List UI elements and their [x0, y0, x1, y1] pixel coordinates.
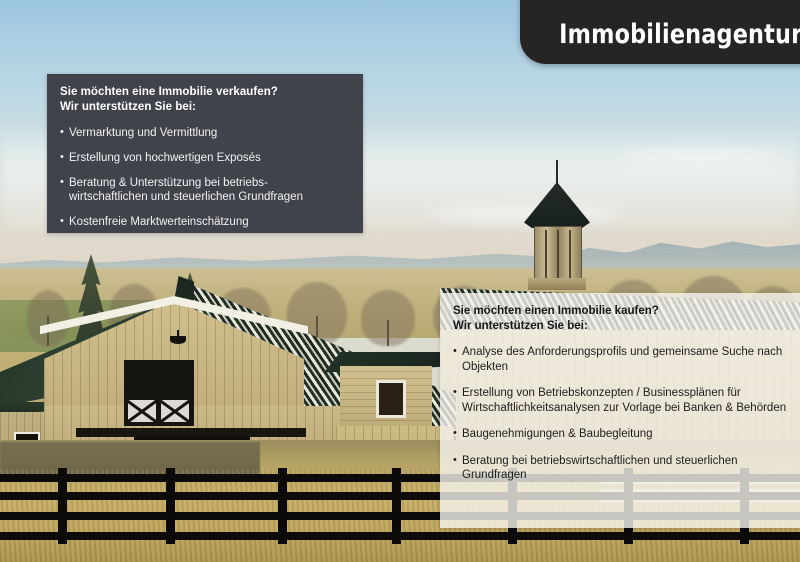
bullet-line-1: Erstellung von Betriebskonzepten / Busin…: [462, 387, 724, 399]
bullet-line-3: Banken & Behörden: [683, 402, 786, 414]
bullet-line-1: Beratung bei betriebswirtschaftlichen un…: [462, 455, 672, 467]
list-item: Vermarktung und Vermittlung: [60, 126, 351, 140]
fence-post: [58, 468, 67, 544]
poster-canvas: Immobilienagentur Sie möchten eine Immob…: [0, 0, 800, 562]
bullet-line-1: Baugenehmigungen & Baubegleitung: [462, 428, 653, 440]
buy-panel-heading: Sie möchten einen Immobilie kaufen? Wir …: [453, 304, 790, 334]
list-item: Beratung bei betriebswirtschaftlichen un…: [453, 454, 790, 483]
cupola-windows: [534, 226, 582, 282]
page-title: Immobilienagentur: [559, 19, 800, 50]
sell-bullet-list: Vermarktung und Vermittlung Erstellung v…: [60, 126, 351, 229]
buy-info-panel: Sie möchten einen Immobilie kaufen? Wir …: [440, 293, 800, 528]
fence-post: [166, 468, 175, 544]
cupola-roof: [524, 182, 590, 228]
buy-heading-line-2: Wir unterstützen Sie bei:: [453, 319, 790, 334]
fence-post: [392, 468, 401, 544]
bullet-line-1: Analyse des Anforderungsprofils und geme…: [462, 346, 718, 358]
barn-cupola: [524, 182, 590, 292]
bullet-line-1: Vermarktung und Vermittlung: [69, 127, 217, 139]
bullet-line-2: wirtschaftlichen und steuerlichen Grundf…: [69, 190, 351, 204]
sell-panel-heading: Sie möchten eine Immobilie verkaufen? Wi…: [60, 85, 351, 115]
list-item: Beratung & Unterstützung bei betriebs- w…: [60, 176, 351, 204]
fence-post: [278, 468, 287, 544]
cupola-base: [528, 278, 586, 290]
hayloft-door: [124, 360, 194, 426]
list-item: Baugenehmigungen & Baubegleitung: [453, 427, 790, 442]
list-item: Erstellung von hochwertigen Exposés: [60, 151, 351, 165]
barn-lamp: [170, 330, 186, 344]
list-item: Analyse des Anforderungsprofils und geme…: [453, 345, 790, 374]
bullet-line-1: Erstellung von hochwertigen Exposés: [69, 152, 261, 164]
bullet-line-1: Beratung & Unterstützung bei betriebs-: [69, 177, 268, 189]
sell-heading-line-2: Wir unterstützen Sie bei:: [60, 100, 351, 115]
list-item: Erstellung von Betriebskonzepten / Busin…: [453, 386, 790, 415]
header-banner: Immobilienagentur: [520, 0, 800, 64]
sell-info-panel: Sie möchten eine Immobilie verkaufen? Wi…: [47, 74, 363, 233]
dormer-window: [376, 380, 406, 418]
buy-bullet-list: Analyse des Anforderungsprofils und geme…: [453, 345, 790, 483]
buy-heading-line-1: Sie möchten einen Immobilie kaufen?: [453, 304, 790, 319]
cupola-spire: [556, 160, 558, 184]
cloud-wisp: [620, 150, 780, 164]
list-item: Kostenfreie Marktwerteinschätzung: [60, 215, 351, 229]
sell-heading-line-1: Sie möchten eine Immobilie verkaufen?: [60, 85, 351, 100]
bullet-line-1: Kostenfreie Marktwerteinschätzung: [69, 216, 249, 228]
